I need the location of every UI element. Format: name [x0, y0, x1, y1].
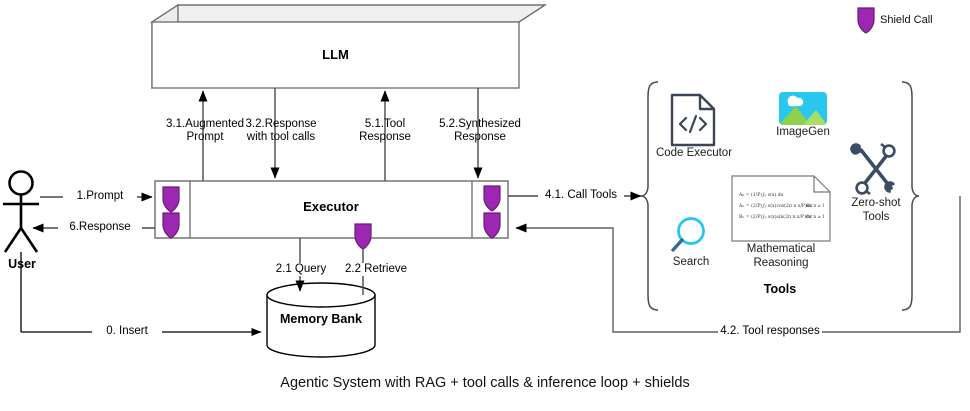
tool-label-code-executor: Code Executor: [650, 147, 738, 161]
image-icon: [779, 92, 827, 125]
edge-label-retrieve: 2.2 Retrieve: [336, 263, 416, 276]
memory-bank-label: Memory Bank: [267, 313, 375, 326]
tool-label-mathematical-reasoning: Mathematical Reasoning: [727, 243, 835, 270]
diagram-canvas: A₀ = (1/P)∫ₚ s(x) dx Aₙ = (2/P)∫ₚ s(x)co…: [0, 0, 970, 411]
edge-label-query: 2.1 Query: [266, 263, 336, 276]
magnifier-icon: [673, 219, 704, 251]
edge-label-response-tool-calls: 3.2.Response with tool calls: [226, 118, 336, 144]
formula-document-icon: A₀ = (1/P)∫ₚ s(x) dx Aₙ = (2/P)∫ₚ s(x)co…: [732, 176, 830, 241]
edge-label-tool-responses: 4.2. Tool responses: [718, 325, 822, 338]
svg-text:for n ≥ 1: for n ≥ 1: [806, 214, 825, 219]
edge-label-tool-response: 5.1.Tool Response: [340, 118, 430, 144]
legend-label-shield-call: Shield Call: [880, 14, 933, 26]
svg-text:Bₙ = (2/P)∫ₚ s(x)sin(2π n x/P): Bₙ = (2/P)∫ₚ s(x)sin(2π n x/P)dx: [739, 213, 812, 220]
svg-text:for n ≥ 1: for n ≥ 1: [806, 203, 825, 208]
figure-caption: Agentic System with RAG + tool calls & i…: [0, 375, 970, 391]
edge-label-insert: 0. Insert: [92, 325, 162, 338]
user-label: User: [0, 258, 44, 271]
tool-label-search: Search: [664, 256, 718, 270]
edge-label-prompt: 1.Prompt: [63, 190, 137, 203]
svg-text:Aₙ = (2/P)∫ₚ s(x)cos(2π n x/P): Aₙ = (2/P)∫ₚ s(x)cos(2π n x/P)dx: [738, 202, 813, 209]
crossed-wrenches-icon: [851, 144, 894, 194]
tool-label-imagegen: ImageGen: [768, 126, 838, 140]
executor-label: Executor: [190, 200, 472, 213]
tools-group-label: Tools: [725, 283, 835, 296]
llm-label: LLM: [152, 48, 519, 61]
edge-insert: [21, 252, 261, 332]
user-actor[interactable]: [3, 172, 39, 253]
code-document-icon: [672, 95, 714, 145]
tool-label-zero-shot-tools: Zero-shot Tools: [840, 197, 912, 224]
edge-label-synthesized-response: 5.2.Synthesized Response: [425, 118, 535, 144]
edge-label-call-tools: 4.1. Call Tools: [538, 189, 624, 202]
shield-icon-legend: [858, 8, 874, 33]
edge-label-response: 6.Response: [58, 221, 142, 234]
shield-icon-memory-retrieve: [355, 224, 371, 249]
svg-text:A₀ = (1/P)∫ₚ s(x) dx: A₀ = (1/P)∫ₚ s(x) dx: [738, 191, 784, 198]
